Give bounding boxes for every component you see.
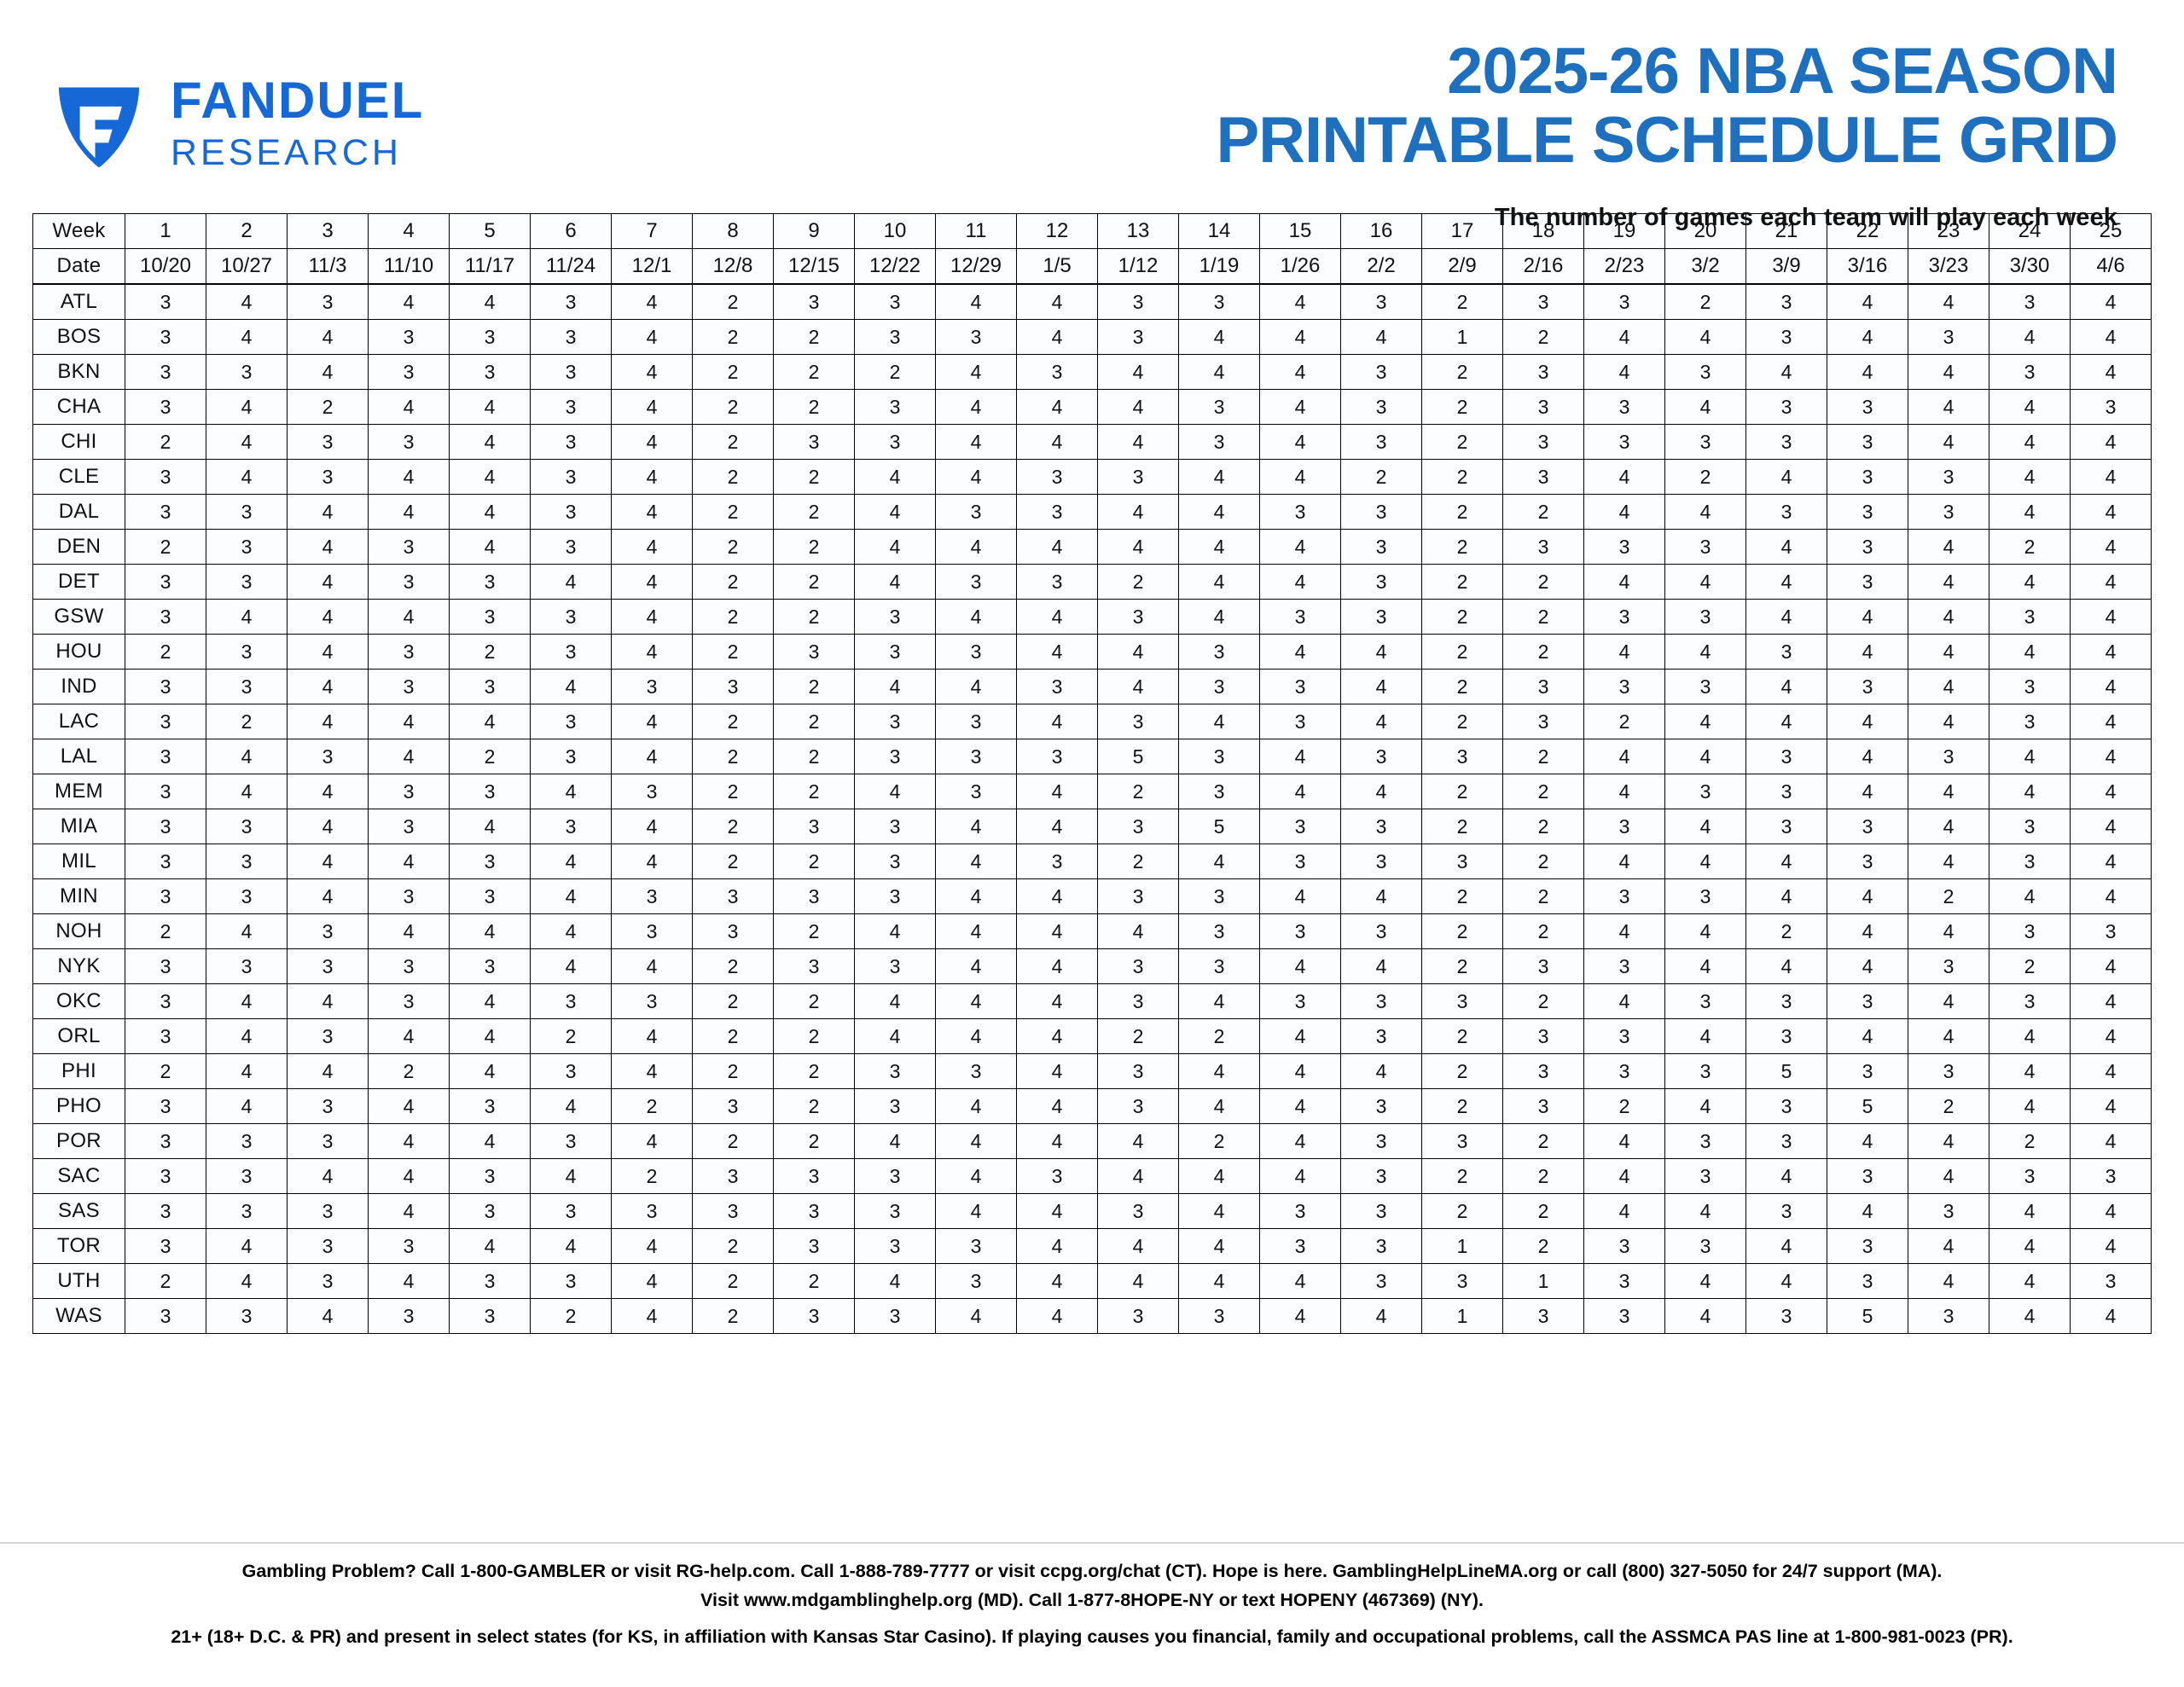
games-count-cell: 3 [1584, 949, 1665, 984]
games-count-cell: 4 [2071, 1124, 2152, 1159]
games-count-cell: 3 [855, 1299, 936, 1334]
games-count-cell: 4 [369, 1159, 450, 1194]
games-count-cell: 4 [450, 390, 531, 425]
games-count-cell: 3 [1827, 809, 1908, 844]
games-count-cell: 3 [450, 774, 531, 809]
games-count-cell: 3 [1341, 1194, 1422, 1229]
games-count-cell: 2 [693, 704, 774, 739]
games-count-cell: 3 [1098, 879, 1179, 914]
games-count-cell: 4 [1827, 914, 1908, 949]
games-count-cell: 4 [1827, 284, 1908, 320]
games-count-cell: 4 [2071, 670, 2152, 704]
games-count-cell: 4 [1665, 914, 1746, 949]
games-count-cell: 4 [1017, 425, 1098, 460]
games-count-cell: 3 [774, 1299, 855, 1334]
games-count-cell: 3 [1098, 320, 1179, 355]
games-count-cell: 3 [206, 355, 288, 390]
games-count-cell: 3 [1584, 1229, 1665, 1264]
games-count-cell: 4 [1908, 984, 1989, 1019]
games-count-cell: 2 [774, 565, 855, 600]
games-count-cell: 3 [1341, 390, 1422, 425]
games-count-cell: 2 [1422, 635, 1503, 670]
games-count-cell: 2 [1179, 1124, 1260, 1159]
games-count-cell: 3 [531, 1124, 612, 1159]
games-count-cell: 4 [936, 1159, 1017, 1194]
games-count-cell: 4 [206, 1054, 288, 1089]
games-count-cell: 4 [1584, 355, 1665, 390]
table-row: CHA3424434223444343233433443 [33, 390, 2152, 425]
games-count-cell: 3 [1341, 1019, 1422, 1054]
games-count-cell: 3 [1584, 809, 1665, 844]
team-abbreviation: LAL [33, 739, 125, 774]
table-row: CLE3434434224433442234243344 [33, 460, 2152, 495]
games-count-cell: 2 [1746, 914, 1827, 949]
games-count-cell: 4 [1017, 984, 1098, 1019]
table-row: SAC3344342333434443224343433 [33, 1159, 2152, 1194]
games-count-cell: 3 [1746, 1124, 1827, 1159]
games-count-cell: 2 [1422, 355, 1503, 390]
games-count-cell: 4 [936, 1124, 1017, 1159]
week-date-header: 3/16 [1827, 249, 1908, 285]
games-count-cell: 4 [2071, 1054, 2152, 1089]
games-count-cell: 3 [1665, 355, 1746, 390]
games-count-cell: 4 [1584, 914, 1665, 949]
games-count-cell: 4 [1908, 704, 1989, 739]
games-count-cell: 4 [1260, 530, 1341, 565]
team-abbreviation: PHI [33, 1054, 125, 1089]
week-date-header: 10/20 [125, 249, 206, 285]
games-count-cell: 4 [1584, 1194, 1665, 1229]
games-count-cell: 1 [1422, 1229, 1503, 1264]
games-count-cell: 3 [1908, 739, 1989, 774]
games-count-cell: 3 [206, 844, 288, 879]
games-count-cell: 2 [693, 460, 774, 495]
games-count-cell: 2 [774, 670, 855, 704]
games-count-cell: 3 [1827, 1159, 1908, 1194]
games-count-cell: 4 [936, 284, 1017, 320]
games-count-cell: 3 [855, 949, 936, 984]
games-count-cell: 4 [1908, 390, 1989, 425]
games-count-cell: 3 [1665, 1054, 1746, 1089]
games-count-cell: 4 [1260, 1299, 1341, 1334]
games-count-cell: 3 [1503, 1019, 1584, 1054]
games-count-cell: 3 [1341, 1159, 1422, 1194]
games-count-cell: 3 [855, 390, 936, 425]
team-abbreviation: UTH [33, 1264, 125, 1299]
games-count-cell: 3 [1989, 844, 2071, 879]
games-count-cell: 4 [206, 774, 288, 809]
team-abbreviation: GSW [33, 600, 125, 635]
games-count-cell: 4 [1665, 1299, 1746, 1334]
games-count-cell: 3 [2071, 1159, 2152, 1194]
team-abbreviation: IND [33, 670, 125, 704]
games-count-cell: 3 [531, 1054, 612, 1089]
games-count-cell: 3 [531, 355, 612, 390]
games-count-cell: 4 [1665, 495, 1746, 530]
games-count-cell: 3 [1260, 844, 1341, 879]
games-count-cell: 5 [1746, 1054, 1827, 1089]
team-abbreviation: BOS [33, 320, 125, 355]
games-count-cell: 3 [125, 704, 206, 739]
games-count-cell: 3 [531, 320, 612, 355]
games-count-cell: 3 [855, 284, 936, 320]
games-count-cell: 3 [288, 460, 369, 495]
games-count-cell: 2 [1098, 565, 1179, 600]
week-date-header: 3/2 [1665, 249, 1746, 285]
games-count-cell: 4 [1665, 635, 1746, 670]
games-count-cell: 4 [1827, 355, 1908, 390]
games-count-cell: 4 [2071, 355, 2152, 390]
team-abbreviation: DEN [33, 530, 125, 565]
games-count-cell: 3 [206, 949, 288, 984]
table-row: LAL3434234223335343324434344 [33, 739, 2152, 774]
games-count-cell: 4 [288, 984, 369, 1019]
games-count-cell: 3 [612, 1194, 693, 1229]
games-count-cell: 3 [1341, 425, 1422, 460]
games-count-cell: 3 [1341, 1124, 1422, 1159]
games-count-cell: 3 [1341, 530, 1422, 565]
games-count-cell: 3 [125, 1019, 206, 1054]
week-date-header: 1/26 [1260, 249, 1341, 285]
games-count-cell: 4 [288, 774, 369, 809]
games-count-cell: 4 [1179, 1194, 1260, 1229]
games-count-cell: 4 [1989, 1019, 2071, 1054]
table-row: MIN3343343333443344223344244 [33, 879, 2152, 914]
games-count-cell: 2 [450, 635, 531, 670]
games-count-cell: 3 [1098, 460, 1179, 495]
table-row: OKC3443433224443433324333434 [33, 984, 2152, 1019]
games-count-cell: 4 [936, 460, 1017, 495]
games-count-cell: 4 [288, 565, 369, 600]
games-count-cell: 4 [2071, 600, 2152, 635]
games-count-cell: 4 [288, 704, 369, 739]
games-count-cell: 3 [1098, 809, 1179, 844]
games-count-cell: 3 [531, 390, 612, 425]
games-count-cell: 3 [1584, 284, 1665, 320]
games-count-cell: 2 [693, 355, 774, 390]
games-count-cell: 2 [1503, 565, 1584, 600]
games-count-cell: 3 [1017, 670, 1098, 704]
games-count-cell: 4 [1017, 1229, 1098, 1264]
games-count-cell: 1 [1422, 1299, 1503, 1334]
games-count-cell: 2 [1422, 284, 1503, 320]
games-count-cell: 3 [1017, 844, 1098, 879]
page-title: 2025-26 NBA SEASON PRINTABLE SCHEDULE GR… [580, 38, 2133, 232]
games-count-cell: 3 [1341, 565, 1422, 600]
week-date-header: 4/6 [2071, 249, 2152, 285]
games-count-cell: 3 [125, 739, 206, 774]
games-count-cell: 3 [1827, 1229, 1908, 1264]
games-count-cell: 2 [1503, 320, 1584, 355]
games-count-cell: 4 [1746, 704, 1827, 739]
games-count-cell: 4 [1017, 809, 1098, 844]
games-count-cell: 3 [1341, 984, 1422, 1019]
games-count-cell: 3 [1341, 914, 1422, 949]
games-count-cell: 3 [1179, 670, 1260, 704]
games-count-cell: 4 [369, 704, 450, 739]
games-count-cell: 3 [1341, 355, 1422, 390]
games-count-cell: 2 [774, 390, 855, 425]
games-count-cell: 4 [1746, 460, 1827, 495]
games-count-cell: 4 [450, 284, 531, 320]
games-count-cell: 4 [288, 530, 369, 565]
games-count-cell: 3 [125, 320, 206, 355]
games-count-cell: 4 [1341, 704, 1422, 739]
games-count-cell: 3 [1746, 739, 1827, 774]
games-count-cell: 3 [369, 949, 450, 984]
games-count-cell: 4 [1098, 1159, 1179, 1194]
games-count-cell: 2 [1908, 1089, 1989, 1124]
games-count-cell: 3 [612, 670, 693, 704]
games-count-cell: 3 [1989, 984, 2071, 1019]
games-count-cell: 4 [1260, 879, 1341, 914]
games-count-cell: 2 [1422, 495, 1503, 530]
games-count-cell: 2 [1503, 914, 1584, 949]
games-count-cell: 2 [612, 1089, 693, 1124]
games-count-cell: 3 [288, 914, 369, 949]
games-count-cell: 3 [1260, 1194, 1341, 1229]
games-count-cell: 3 [1746, 284, 1827, 320]
games-count-cell: 3 [1746, 1089, 1827, 1124]
games-count-cell: 4 [369, 284, 450, 320]
games-count-cell: 3 [1422, 1264, 1503, 1299]
games-count-cell: 4 [206, 1264, 288, 1299]
games-count-cell: 2 [1422, 1019, 1503, 1054]
games-count-cell: 4 [1746, 844, 1827, 879]
games-count-cell: 4 [612, 320, 693, 355]
games-count-cell: 3 [1584, 1299, 1665, 1334]
games-count-cell: 3 [936, 704, 1017, 739]
table-row: MEM3443343224342344224334444 [33, 774, 2152, 809]
games-count-cell: 3 [1503, 390, 1584, 425]
games-count-cell: 4 [1179, 844, 1260, 879]
games-count-cell: 4 [1989, 739, 2071, 774]
games-count-cell: 3 [1098, 1194, 1179, 1229]
games-count-cell: 2 [1422, 1089, 1503, 1124]
games-count-cell: 4 [612, 635, 693, 670]
games-count-cell: 2 [125, 635, 206, 670]
games-count-cell: 4 [2071, 774, 2152, 809]
games-count-cell: 3 [125, 1194, 206, 1229]
games-count-cell: 3 [1017, 565, 1098, 600]
games-count-cell: 2 [1503, 739, 1584, 774]
games-count-cell: 4 [1179, 1229, 1260, 1264]
games-count-cell: 4 [2071, 530, 2152, 565]
table-row: NOH2434443324444333224424433 [33, 914, 2152, 949]
games-count-cell: 2 [125, 1264, 206, 1299]
games-count-cell: 3 [855, 635, 936, 670]
games-count-cell: 3 [1665, 425, 1746, 460]
games-count-cell: 4 [206, 984, 288, 1019]
games-count-cell: 4 [288, 1054, 369, 1089]
games-count-cell: 3 [1422, 1124, 1503, 1159]
games-count-cell: 3 [369, 320, 450, 355]
games-count-cell: 4 [936, 1019, 1017, 1054]
table-row: MIL3344344223432433324443434 [33, 844, 2152, 879]
games-count-cell: 3 [288, 739, 369, 774]
week-date-header: 12/15 [774, 249, 855, 285]
games-count-cell: 4 [1260, 355, 1341, 390]
games-count-cell: 3 [531, 739, 612, 774]
games-count-cell: 4 [1989, 495, 2071, 530]
games-count-cell: 4 [1260, 1264, 1341, 1299]
games-count-cell: 4 [1989, 1194, 2071, 1229]
games-count-cell: 3 [855, 320, 936, 355]
games-count-cell: 2 [1503, 495, 1584, 530]
schedule-grid-table: Week 12345678910111213141516171819202122… [32, 213, 2152, 1334]
games-count-cell: 4 [1665, 565, 1746, 600]
games-count-cell: 3 [450, 1264, 531, 1299]
team-rows-body: ATL3434434233443343233234434BOS344333422… [33, 284, 2152, 1334]
games-count-cell: 4 [2071, 495, 2152, 530]
games-count-cell: 2 [1422, 914, 1503, 949]
games-count-cell: 3 [936, 1264, 1017, 1299]
games-count-cell: 3 [1827, 984, 1908, 1019]
games-count-cell: 4 [936, 1194, 1017, 1229]
games-count-cell: 4 [1746, 949, 1827, 984]
games-count-cell: 3 [1989, 355, 2071, 390]
table-row: UTH2434334224344443313443443 [33, 1264, 2152, 1299]
games-count-cell: 3 [450, 600, 531, 635]
games-count-cell: 4 [1665, 844, 1746, 879]
games-count-cell: 4 [1260, 1054, 1341, 1089]
games-count-cell: 4 [1989, 425, 2071, 460]
games-count-cell: 4 [1179, 984, 1260, 1019]
games-count-cell: 2 [1908, 879, 1989, 914]
games-count-cell: 4 [1098, 670, 1179, 704]
games-count-cell: 3 [1584, 600, 1665, 635]
week-label: Week [33, 214, 125, 249]
games-count-cell: 3 [1908, 320, 1989, 355]
games-count-cell: 4 [1017, 390, 1098, 425]
games-count-cell: 3 [1827, 1054, 1908, 1089]
games-count-cell: 4 [450, 530, 531, 565]
games-count-cell: 3 [774, 425, 855, 460]
games-count-cell: 3 [288, 284, 369, 320]
team-abbreviation: MIN [33, 879, 125, 914]
games-count-cell: 2 [1422, 565, 1503, 600]
games-count-cell: 4 [936, 390, 1017, 425]
games-count-cell: 4 [288, 495, 369, 530]
games-count-cell: 3 [206, 530, 288, 565]
games-count-cell: 2 [774, 1089, 855, 1124]
games-count-cell: 4 [1989, 1089, 2071, 1124]
games-count-cell: 3 [125, 495, 206, 530]
games-count-cell: 4 [612, 600, 693, 635]
games-count-cell: 4 [288, 670, 369, 704]
games-count-cell: 4 [531, 565, 612, 600]
games-count-cell: 2 [531, 1019, 612, 1054]
games-count-cell: 4 [450, 1229, 531, 1264]
games-count-cell: 4 [288, 1159, 369, 1194]
table-row: BOS3443334223343444124434344 [33, 320, 2152, 355]
games-count-cell: 3 [450, 670, 531, 704]
games-count-cell: 4 [206, 600, 288, 635]
games-count-cell: 3 [2071, 1264, 2152, 1299]
games-count-cell: 4 [450, 1124, 531, 1159]
games-count-cell: 2 [531, 1299, 612, 1334]
games-count-cell: 3 [369, 774, 450, 809]
games-count-cell: 4 [1584, 495, 1665, 530]
games-count-cell: 2 [693, 600, 774, 635]
games-count-cell: 2 [774, 460, 855, 495]
games-count-cell: 4 [1017, 774, 1098, 809]
games-count-cell: 4 [855, 1019, 936, 1054]
games-count-cell: 4 [1260, 1089, 1341, 1124]
games-count-cell: 3 [288, 1089, 369, 1124]
games-count-cell: 4 [2071, 1019, 2152, 1054]
games-count-cell: 4 [936, 879, 1017, 914]
table-row: MIA3343434233443533223433434 [33, 809, 2152, 844]
games-count-cell: 4 [531, 1159, 612, 1194]
games-count-cell: 4 [1017, 1264, 1098, 1299]
games-count-cell: 3 [855, 600, 936, 635]
games-count-cell: 3 [1179, 635, 1260, 670]
games-count-cell: 2 [774, 1124, 855, 1159]
games-count-cell: 2 [774, 704, 855, 739]
games-count-cell: 4 [1908, 1159, 1989, 1194]
week-date-header: 11/24 [531, 249, 612, 285]
games-count-cell: 3 [612, 774, 693, 809]
games-count-cell: 3 [531, 425, 612, 460]
games-count-cell: 3 [1908, 495, 1989, 530]
games-count-cell: 2 [693, 284, 774, 320]
footer-line-1: Gambling Problem? Call 1-800-GAMBLER or … [34, 1559, 2150, 1583]
games-count-cell: 3 [774, 1229, 855, 1264]
games-count-cell: 3 [855, 425, 936, 460]
games-count-cell: 4 [1017, 1089, 1098, 1124]
games-count-cell: 4 [2071, 1299, 2152, 1334]
games-count-cell: 3 [855, 1054, 936, 1089]
games-count-cell: 3 [1665, 1159, 1746, 1194]
games-count-cell: 3 [125, 879, 206, 914]
games-count-cell: 3 [612, 984, 693, 1019]
games-count-cell: 4 [1665, 704, 1746, 739]
games-count-cell: 3 [125, 460, 206, 495]
games-count-cell: 3 [369, 809, 450, 844]
games-count-cell: 4 [1017, 1054, 1098, 1089]
games-count-cell: 3 [1665, 600, 1746, 635]
games-count-cell: 3 [936, 565, 1017, 600]
games-count-cell: 2 [1989, 949, 2071, 984]
games-count-cell: 3 [369, 670, 450, 704]
games-count-cell: 3 [288, 1019, 369, 1054]
games-count-cell: 4 [1341, 635, 1422, 670]
games-count-cell: 2 [1503, 774, 1584, 809]
games-count-cell: 3 [369, 635, 450, 670]
games-count-cell: 4 [1827, 320, 1908, 355]
games-count-cell: 3 [855, 704, 936, 739]
games-count-cell: 2 [774, 844, 855, 879]
games-count-cell: 4 [1098, 425, 1179, 460]
games-count-cell: 3 [1827, 390, 1908, 425]
table-row: NYK3333344233443344233444324 [33, 949, 2152, 984]
games-count-cell: 3 [774, 635, 855, 670]
games-count-cell: 4 [1017, 914, 1098, 949]
games-count-cell: 4 [1827, 879, 1908, 914]
schedule-grid-wrapper: Week 12345678910111213141516171819202122… [0, 213, 2184, 1334]
games-count-cell: 3 [206, 1159, 288, 1194]
games-count-cell: 3 [1908, 1299, 1989, 1334]
games-count-cell: 2 [774, 914, 855, 949]
games-count-cell: 4 [1098, 635, 1179, 670]
games-count-cell: 3 [531, 635, 612, 670]
games-count-cell: 3 [1503, 1299, 1584, 1334]
table-row: WAS3343324233443344133435344 [33, 1299, 2152, 1334]
games-count-cell: 3 [1098, 704, 1179, 739]
games-count-cell: 3 [1098, 1054, 1179, 1089]
team-abbreviation: TOR [33, 1229, 125, 1264]
